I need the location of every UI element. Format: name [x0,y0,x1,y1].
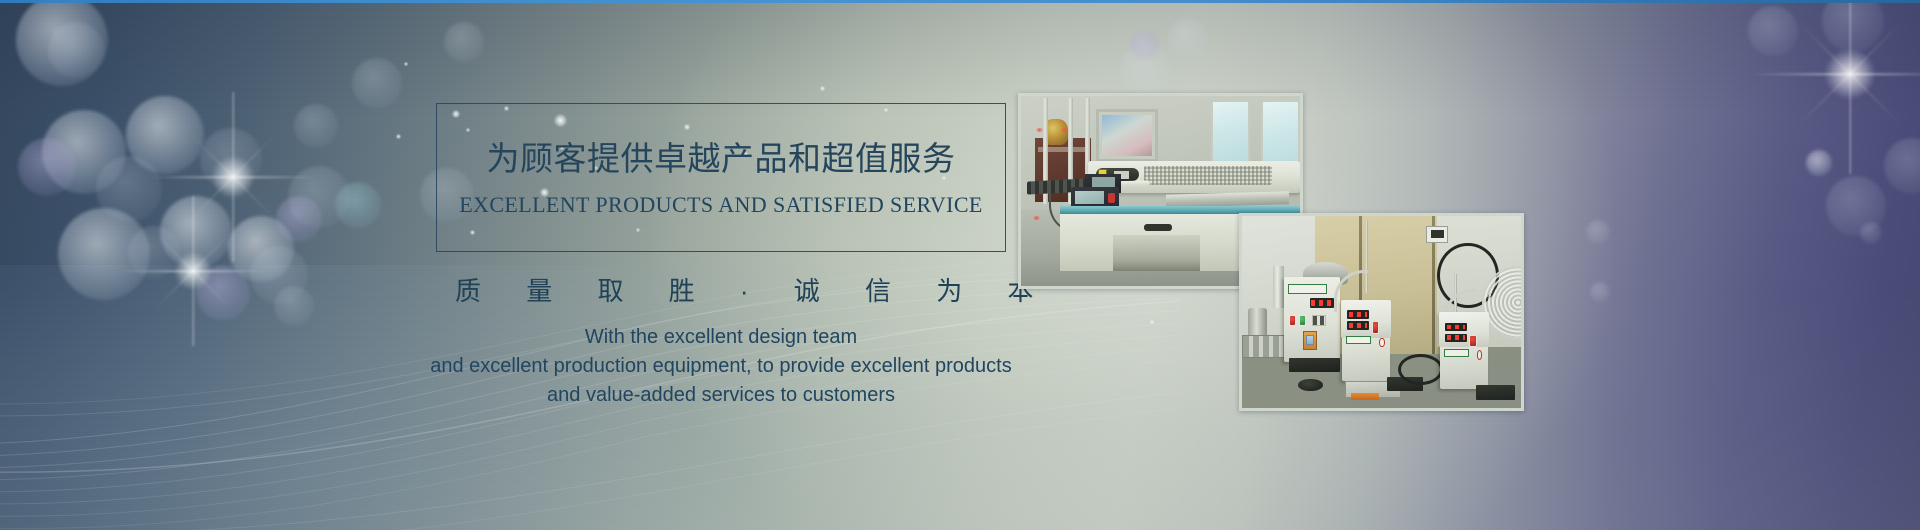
scene2-machine-left [1284,277,1340,361]
scene2-left-blue-tag [1306,335,1314,345]
body-line-3: and value-added services to customers [336,381,1106,410]
scene2-right-anvil [1476,385,1515,400]
scene2-left-stop-button [1289,315,1296,327]
scene2-wall-socket [1426,226,1448,243]
scene2-right-nameplate [1444,349,1469,357]
scene-oven-vent-grille [1144,166,1272,185]
scene2-right-stop-button [1469,335,1477,347]
scene-desk-opening [1113,235,1199,271]
slogan-chinese: 质 量 取 胜 · 诚 信 为 本 [436,271,1006,308]
scene2-center-nameplate [1346,336,1371,344]
headline-chinese: 为顾客提供卓越产品和超值服务 [436,132,1006,180]
scene2-center-orange-strip [1351,393,1379,401]
scene2-machine-center [1342,300,1389,381]
welding-machines-photo-image [1242,216,1521,408]
scene2-center-warning-label [1379,338,1384,348]
scene2-left-nameplate [1288,284,1327,294]
scene2-center-head [1341,300,1391,337]
scene2-left-anvil [1289,358,1339,371]
body-line-2: and excellent production equipment, to p… [336,352,1106,381]
body-paragraph: With the excellent design team and excel… [336,323,1106,410]
scene2-center-led-display-bottom [1347,321,1369,330]
body-line-1: With the excellent design team [336,323,1106,352]
scene-monitor [1096,109,1157,162]
scene2-right-led-display-bottom [1445,334,1467,342]
company-banner: 为顾客提供卓越产品和超值服务 EXCELLENT PRODUCTS AND SA… [0,0,1920,530]
welding-machines-photo [1239,213,1524,411]
scene2-right-warning-label [1477,350,1482,359]
scene-indicator-led-3 [1032,216,1041,220]
scene2-center-led-display-top [1347,310,1369,319]
scene2-left-keypad [1312,315,1327,326]
welding-machines-scene [1242,216,1521,408]
scene2-machine-right [1440,312,1487,389]
scene2-coiled-cable [1398,354,1443,385]
headline-english: EXCELLENT PRODUCTS AND SATISFIED SERVICE [436,192,1006,218]
scene2-left-led-display [1310,298,1335,308]
scene2-center-stop-button [1372,321,1380,334]
scene2-left-rubber-pad [1298,379,1323,391]
scene2-left-start-button [1299,315,1306,327]
top-accent-rule [0,0,1920,3]
scene-drawer-handle [1144,224,1172,231]
scene2-right-led-display-top [1445,323,1467,331]
scene2-left-post [1273,266,1284,308]
